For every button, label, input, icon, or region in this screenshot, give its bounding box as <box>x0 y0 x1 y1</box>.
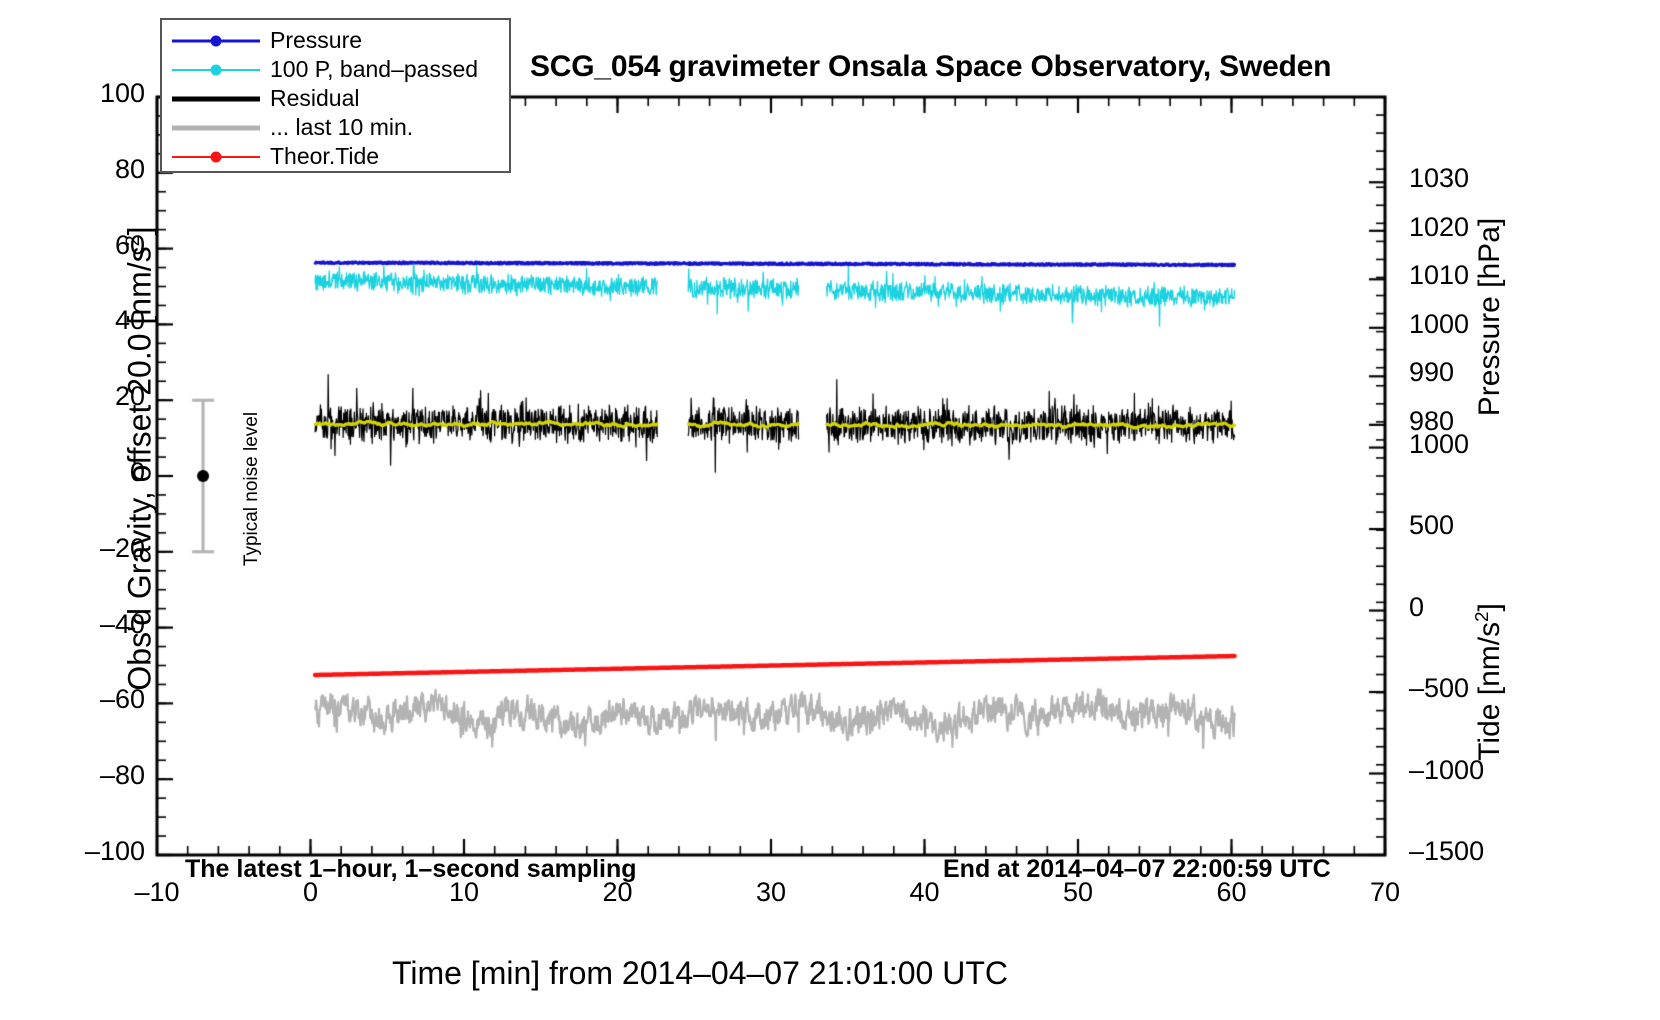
x-tick-50: 50 <box>1038 877 1118 908</box>
x-tick--10: –10 <box>117 877 197 908</box>
x-tick-30: 30 <box>731 877 811 908</box>
y-tick-left-40: 40 <box>27 305 145 336</box>
y-tick-left-80: 80 <box>27 154 145 185</box>
y-tick-left--80: –80 <box>27 760 145 791</box>
y-tick-left--40: –40 <box>27 609 145 640</box>
y-tick-pressure-1010: 1010 <box>1409 260 1469 291</box>
y-tick-pressure-1020: 1020 <box>1409 212 1469 243</box>
y-tick-tide-1000: 1000 <box>1409 429 1469 460</box>
legend-swatch-icon <box>172 147 260 167</box>
gravimeter-plot-page: SCG_054 gravimeter Onsala Space Observat… <box>0 0 1660 1020</box>
legend-item-4[interactable]: Theor.Tide <box>162 142 509 171</box>
x-tick-60: 60 <box>1192 877 1272 908</box>
y-tick-left-60: 60 <box>27 230 145 261</box>
y-tick-tide--500: –500 <box>1409 673 1469 704</box>
y-tick-left--100: –100 <box>27 836 145 867</box>
y-tick-tide--1500: –1500 <box>1409 836 1484 867</box>
legend-dot-icon <box>211 151 222 162</box>
legend-item-0[interactable]: Pressure <box>162 26 509 55</box>
legend-dot-icon <box>211 64 222 75</box>
x-tick-10: 10 <box>424 877 504 908</box>
y-tick-pressure-1000: 1000 <box>1409 309 1469 340</box>
legend-item-label: Residual <box>260 85 360 112</box>
x-tick-40: 40 <box>885 877 965 908</box>
legend-line-icon <box>172 125 260 130</box>
latest-sampling-note: The latest 1–hour, 1–second sampling <box>185 855 637 884</box>
legend-item-label: ... last 10 min. <box>260 114 413 141</box>
x-axis-label: Time [min] from 2014–04–07 21:01:00 UTC <box>0 955 1400 992</box>
legend-item-2[interactable]: Residual <box>162 84 509 113</box>
y-axis-label-tide: Tide [nm/s2] <box>1473 512 1507 852</box>
y-tick-pressure-990: 990 <box>1409 357 1454 388</box>
legend-item-label: Pressure <box>260 27 362 54</box>
y-tick-tide-0: 0 <box>1409 592 1424 623</box>
legend-item-label: Theor.Tide <box>260 143 379 170</box>
noise-level-label: Typical noise level <box>241 389 263 589</box>
legend-swatch-icon <box>172 60 260 80</box>
legend-dot-icon <box>211 35 222 46</box>
y-axis-label-tide-text: Tide [nm/s2] <box>1473 603 1506 761</box>
y-tick-pressure-1030: 1030 <box>1409 163 1469 194</box>
legend-line-icon <box>172 96 260 101</box>
legend-swatch-icon <box>172 89 260 109</box>
legend-swatch-icon <box>172 118 260 138</box>
end-time-note: End at 2014–04–07 22:00:59 UTC <box>943 855 1331 884</box>
x-tick-70: 70 <box>1345 877 1425 908</box>
y-tick-left-100: 100 <box>27 78 145 109</box>
y-tick-left-0: 0 <box>27 457 145 488</box>
y-tick-tide--1000: –1000 <box>1409 755 1484 786</box>
x-tick-0: 0 <box>271 877 351 908</box>
legend-item-label: 100 P, band–passed <box>260 56 478 83</box>
y-tick-left--60: –60 <box>27 684 145 715</box>
y-tick-left--20: –20 <box>27 533 145 564</box>
x-tick-20: 20 <box>578 877 658 908</box>
y-tick-left-20: 20 <box>27 381 145 412</box>
legend-swatch-icon <box>172 31 260 51</box>
legend-item-3[interactable]: ... last 10 min. <box>162 113 509 142</box>
legend-item-1[interactable]: 100 P, band–passed <box>162 55 509 84</box>
y-tick-tide-500: 500 <box>1409 510 1454 541</box>
y-axis-label-pressure: Pressure [hPa] <box>1473 107 1507 527</box>
legend[interactable]: Pressure100 P, band–passedResidual... la… <box>160 18 511 173</box>
chart-title: SCG_054 gravimeter Onsala Space Observat… <box>530 50 1331 84</box>
